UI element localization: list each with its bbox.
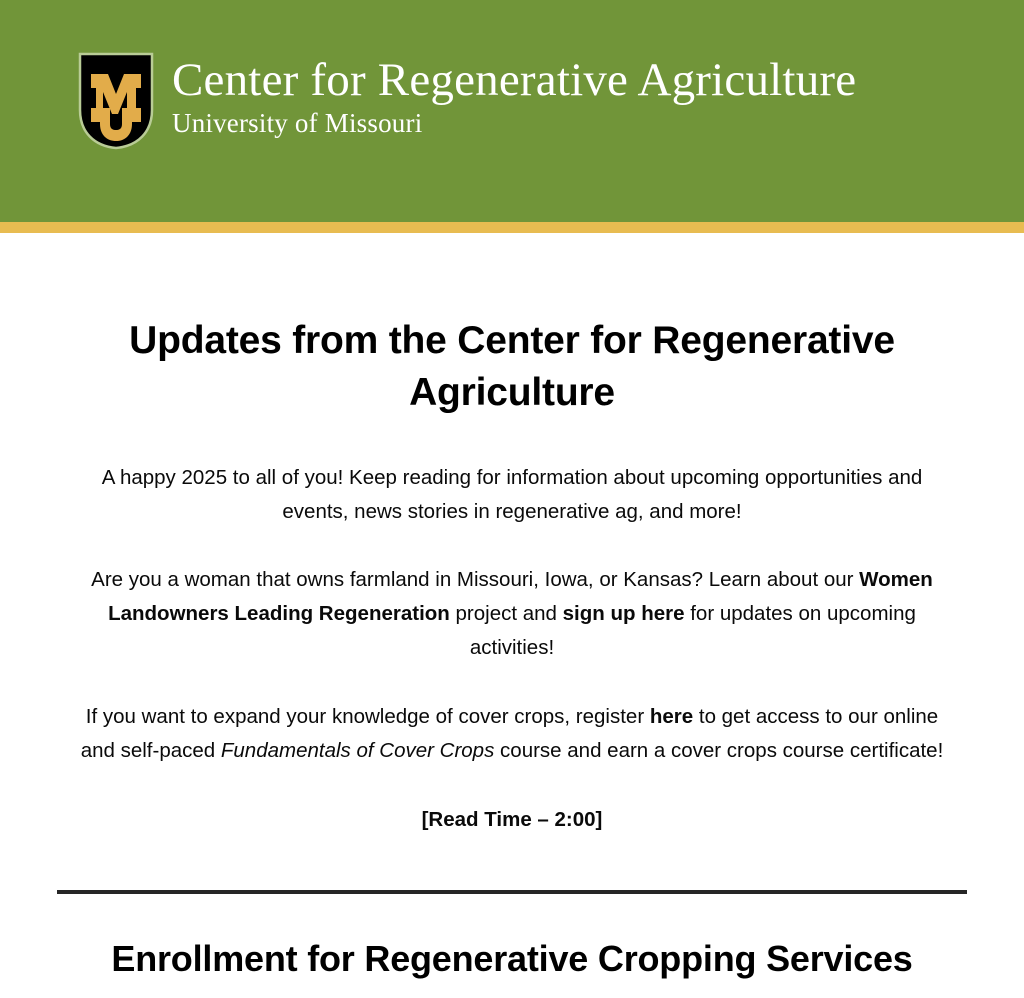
inline-link[interactable]: sign up here: [563, 602, 685, 625]
next-section-heading: Enrollment for Regenerative Cropping Ser…: [0, 894, 1024, 982]
mu-logo-icon: [78, 52, 154, 150]
banner-title: Center for Regenerative Agriculture: [172, 52, 856, 108]
paragraph-happy-new-year: A happy 2025 to all of you! Keep reading…: [0, 419, 1024, 529]
newsletter-page: Center for Regenerative Agriculture Univ…: [0, 0, 1024, 998]
inline-link[interactable]: here: [650, 705, 693, 728]
header-banner: Center for Regenerative Agriculture Univ…: [0, 0, 1024, 222]
inline-text: A happy 2025 to all of you! Keep reading…: [102, 466, 923, 523]
gold-accent-stripe: [0, 222, 1024, 233]
read-time-label: [Read Time – 2:00]: [0, 768, 1024, 837]
inline-text: If you want to expand your knowledge of …: [86, 705, 650, 728]
paragraph-women-landowners: Are you a woman that owns farmland in Mi…: [0, 529, 1024, 665]
banner-subtitle: University of Missouri: [172, 106, 856, 140]
inline-text: course and earn a cover crops course cer…: [494, 739, 943, 762]
inline-italic: Fundamentals of Cover Crops: [221, 739, 494, 762]
banner-branding: Center for Regenerative Agriculture Univ…: [78, 52, 856, 150]
page-title: Updates from the Center for Regenerative…: [0, 233, 1024, 419]
paragraph-cover-crops-course: If you want to expand your knowledge of …: [0, 665, 1024, 768]
inline-text: Are you a woman that owns farmland in Mi…: [91, 568, 859, 591]
main-content: Updates from the Center for Regenerative…: [0, 233, 1024, 982]
banner-text-block: Center for Regenerative Agriculture Univ…: [172, 52, 856, 140]
inline-text: project and: [450, 602, 563, 625]
